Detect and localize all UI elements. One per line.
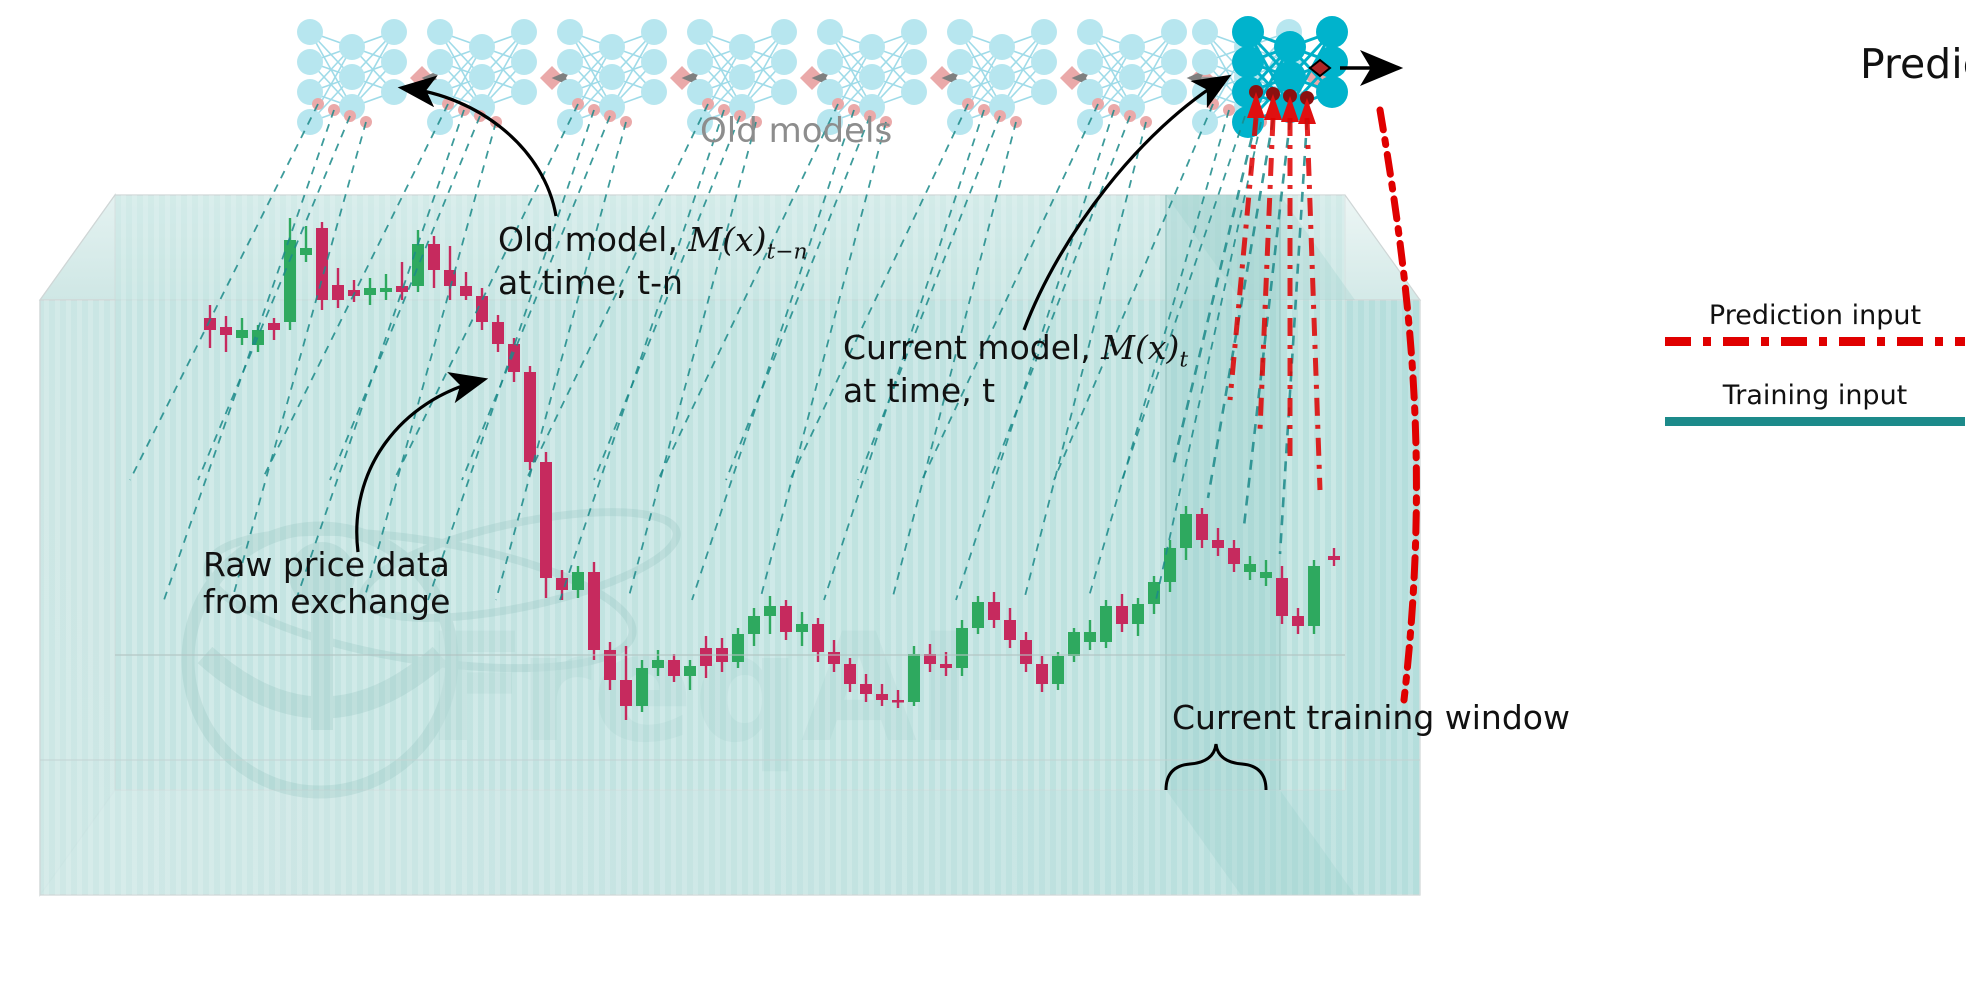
candle-body	[956, 628, 968, 668]
candle-body	[380, 288, 392, 292]
candle-body	[364, 288, 376, 295]
candle-body	[460, 286, 472, 296]
candle-body	[732, 634, 744, 662]
network-node	[641, 19, 667, 45]
candle-body	[492, 322, 504, 344]
candle-body	[764, 606, 776, 616]
candle-body	[828, 652, 840, 664]
network-node	[947, 19, 973, 45]
candle-body	[684, 666, 696, 676]
candle-body	[412, 244, 424, 286]
candle-body	[300, 248, 312, 255]
prediction-output-arrow	[1310, 60, 1396, 76]
candle-body	[1276, 578, 1288, 616]
candle-body	[1100, 606, 1112, 642]
candle-body	[1328, 556, 1340, 560]
network-node	[297, 49, 323, 75]
candle-body	[268, 323, 280, 330]
old-model-formula: M(x)t−n	[688, 220, 807, 259]
candle-body	[524, 372, 536, 462]
candle-body	[1116, 606, 1128, 624]
old-model-callout-text: Old model,	[498, 220, 688, 259]
candle-body	[1196, 514, 1208, 540]
network-node	[469, 64, 495, 90]
raw-price-callout: Raw price data from exchange	[203, 547, 450, 621]
candle-body	[1004, 620, 1016, 640]
candle-body	[1084, 632, 1096, 642]
candle-body	[652, 660, 664, 668]
network-node	[901, 79, 927, 105]
candle-body	[1292, 616, 1304, 626]
current-model-callout: Current model, M(x)t at time, t	[843, 330, 1188, 410]
svg-text:FreqAI: FreqAI	[425, 602, 973, 776]
network-node	[381, 79, 407, 105]
raw-price-line2: from exchange	[203, 584, 450, 621]
network-node[interactable]	[1316, 76, 1348, 108]
network-node	[1119, 64, 1145, 90]
network-node	[771, 19, 797, 45]
diagram-svg: FreqAI	[0, 0, 1966, 981]
network-node	[687, 19, 713, 45]
network-node[interactable]	[1232, 46, 1264, 78]
current-training-window-label: Current training window	[1172, 700, 1570, 737]
old-model-time-text: at time, t-n	[498, 265, 808, 302]
network-node	[901, 49, 927, 75]
network-node[interactable]	[1232, 16, 1264, 48]
network-node	[381, 19, 407, 45]
network-node	[989, 34, 1015, 60]
candle-body	[812, 624, 824, 652]
candle-body	[860, 684, 872, 694]
network-node	[339, 64, 365, 90]
candle-body	[700, 648, 712, 666]
old-models-label: Old models	[700, 112, 892, 150]
network-node[interactable]	[1274, 31, 1306, 63]
candle-body	[316, 228, 328, 300]
candle-body	[1180, 514, 1192, 548]
network-node	[859, 64, 885, 90]
prediction-label: Prediction	[1860, 42, 1966, 88]
network-node	[1077, 19, 1103, 45]
network-node	[729, 34, 755, 60]
network-node	[687, 49, 713, 75]
candle-body	[1308, 566, 1320, 626]
candle-body	[1244, 564, 1256, 572]
legend-label-training-input: Training input	[1665, 380, 1965, 411]
network-node	[599, 64, 625, 90]
diagram-canvas: FreqAI Old models Prediction Old model, …	[0, 0, 1966, 981]
network-node	[339, 34, 365, 60]
network-node	[989, 64, 1015, 90]
candle-body	[668, 660, 680, 676]
candle-body	[588, 572, 600, 650]
network-node	[771, 79, 797, 105]
legend-item-prediction-input: Prediction input	[1665, 300, 1965, 346]
candle-body	[284, 240, 296, 322]
network-node	[1192, 49, 1218, 75]
legend-swatch-prediction-input	[1665, 337, 1965, 346]
candle-body	[1228, 548, 1240, 564]
candle-body	[940, 664, 952, 668]
candle-body	[876, 694, 888, 700]
network-node	[469, 34, 495, 60]
candle-body	[908, 654, 920, 702]
candle-body	[620, 680, 632, 706]
network-node	[557, 19, 583, 45]
network-node	[641, 49, 667, 75]
legend: Prediction input Training input	[1665, 300, 1965, 440]
network-node	[947, 49, 973, 75]
candle-body	[396, 286, 408, 292]
candle-body	[1036, 664, 1048, 684]
candle-body	[844, 664, 856, 684]
candle-body	[332, 285, 344, 300]
current-model-formula: M(x)t	[1101, 328, 1188, 367]
network-node	[599, 34, 625, 60]
network-node	[817, 19, 843, 45]
candle-body	[1132, 604, 1144, 624]
network-node	[641, 79, 667, 105]
candle-body	[988, 602, 1000, 620]
network-node	[427, 49, 453, 75]
network-node	[297, 19, 323, 45]
network-node	[901, 19, 927, 45]
legend-label-prediction-input: Prediction input	[1665, 300, 1965, 331]
legend-swatch-training-input	[1665, 417, 1965, 426]
candle-body	[748, 616, 760, 634]
candle-body	[1068, 632, 1080, 656]
current-model-time-text: at time, t	[843, 373, 1188, 410]
candle-body	[428, 244, 440, 270]
network-node	[427, 19, 453, 45]
network-node	[1161, 79, 1187, 105]
candle-body	[796, 624, 808, 632]
old-model-callout: Old model, M(x)t−n at time, t-n	[498, 222, 808, 302]
network-node	[381, 49, 407, 75]
network-node	[859, 34, 885, 60]
candle-body	[1020, 640, 1032, 664]
network-node	[1161, 19, 1187, 45]
network-node	[511, 79, 537, 105]
network-node[interactable]	[1316, 16, 1348, 48]
candle-body	[972, 602, 984, 628]
candle-body	[780, 606, 792, 632]
network-node	[557, 49, 583, 75]
candle-body	[1052, 656, 1064, 684]
network-node	[1119, 34, 1145, 60]
legend-item-training-input: Training input	[1665, 380, 1965, 426]
network-node	[1192, 19, 1218, 45]
network-node	[1031, 19, 1057, 45]
network-node	[1077, 49, 1103, 75]
network-node	[1031, 49, 1057, 75]
current-model-callout-text: Current model,	[843, 328, 1101, 367]
candle-body	[892, 700, 904, 703]
network-node	[1031, 79, 1057, 105]
network-node	[511, 49, 537, 75]
candle-body	[1260, 572, 1272, 578]
candle-body	[220, 327, 232, 335]
candle-body	[1212, 540, 1224, 548]
candle-body	[540, 462, 552, 578]
network-node	[511, 19, 537, 45]
candle-body	[236, 330, 248, 338]
network-node[interactable]	[1274, 61, 1306, 93]
network-node	[1161, 49, 1187, 75]
network-node	[817, 49, 843, 75]
candle-body	[572, 572, 584, 590]
candle-body	[636, 668, 648, 706]
network-node	[771, 49, 797, 75]
raw-price-line1: Raw price data	[203, 547, 450, 584]
network-node	[729, 64, 755, 90]
